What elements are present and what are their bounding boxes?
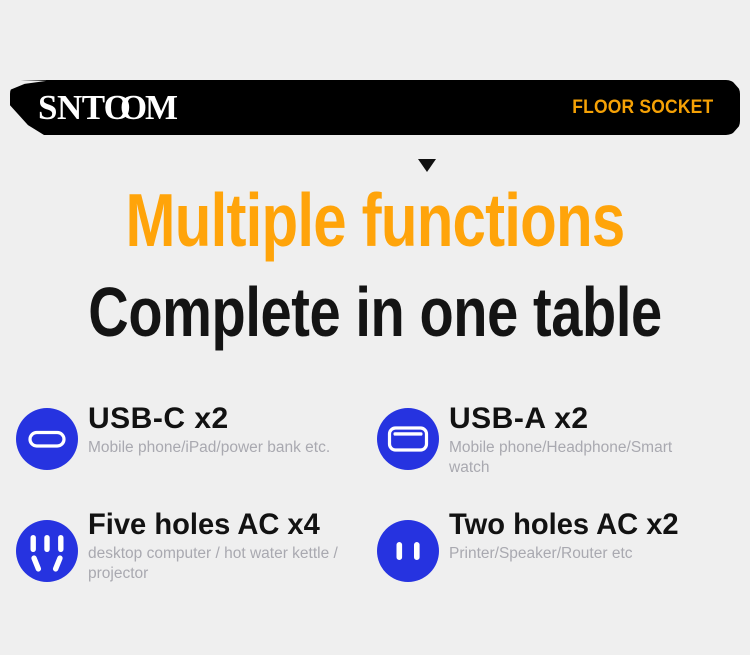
feature-text: Five holes AC x4 desktop computer / hot … [88, 508, 360, 584]
usb-a-port-icon [377, 408, 439, 470]
feature-item-usb-c: USB-C x2 Mobile phone/iPad/power bank et… [0, 402, 375, 478]
five-hole-ac-socket-icon [16, 520, 78, 582]
feature-title: Five holes AC x4 [88, 508, 352, 542]
usb-c-port-icon [16, 408, 78, 470]
feature-title: Two holes AC x2 [449, 508, 679, 542]
brand-logo-part-b: M [145, 90, 178, 125]
feature-item-two-hole-ac: Two holes AC x2 Printer/Speaker/Router e… [375, 508, 750, 584]
feature-row: USB-C x2 Mobile phone/iPad/power bank et… [0, 402, 750, 478]
feature-subtitle: Mobile phone/iPad/power bank etc. [88, 438, 330, 458]
brand-logo: SNTOOM [38, 90, 178, 125]
feature-subtitle: desktop computer / hot water kettle / pr… [88, 544, 360, 584]
brand-logo-overlapping-o: OO [104, 90, 136, 125]
feature-item-five-hole-ac: Five holes AC x4 desktop computer / hot … [0, 508, 375, 584]
triangle-down-icon [418, 159, 436, 172]
headline-secondary: Complete in one table [75, 275, 675, 349]
feature-text: Two holes AC x2 Printer/Speaker/Router e… [449, 508, 686, 564]
feature-subtitle: Mobile phone/Headphone/Smart watch [449, 438, 711, 478]
feature-subtitle: Printer/Speaker/Router etc [449, 544, 686, 564]
feature-text: USB-A x2 Mobile phone/Headphone/Smart wa… [449, 402, 711, 478]
feature-list: USB-C x2 Mobile phone/iPad/power bank et… [0, 402, 750, 584]
headline-primary: Multiple functions [75, 181, 675, 259]
header-bar: SNTOOM FLOOR SOCKET [10, 80, 740, 135]
header-tagline: FLOOR SOCKET [572, 97, 713, 119]
feature-title: USB-A x2 [449, 402, 711, 436]
feature-row: Five holes AC x4 desktop computer / hot … [0, 508, 750, 584]
feature-text: USB-C x2 Mobile phone/iPad/power bank et… [88, 402, 330, 458]
feature-item-usb-a: USB-A x2 Mobile phone/Headphone/Smart wa… [375, 402, 750, 478]
two-hole-ac-socket-icon [377, 520, 439, 582]
brand-logo-part-a: SNT [38, 90, 105, 125]
feature-title: USB-C x2 [88, 402, 330, 436]
